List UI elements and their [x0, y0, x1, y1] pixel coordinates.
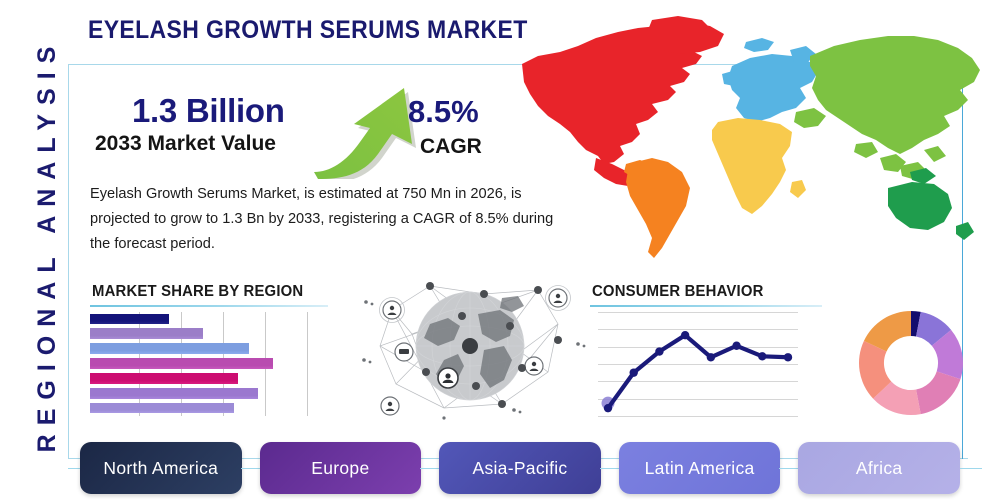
line-marker — [604, 404, 612, 412]
region-tab-europe[interactable]: Europe — [260, 442, 422, 494]
tab-connector — [779, 468, 799, 469]
region-tab-north-america[interactable]: North America — [80, 442, 242, 494]
bar-item — [90, 328, 203, 339]
region-tabs: North AmericaEuropeAsia-PacificLatin Ame… — [80, 442, 960, 494]
bar-item — [90, 403, 234, 414]
consumer-behavior-header: CONSUMER BEHAVIOR — [592, 283, 764, 301]
world-map-icon — [500, 12, 1000, 270]
bar-item — [90, 314, 169, 325]
donut-slice — [916, 371, 960, 414]
global-network-icon — [352, 268, 592, 428]
line-series — [598, 312, 798, 416]
tab-right-connector — [960, 468, 982, 469]
growth-arrow-icon — [312, 84, 422, 179]
infographic-root: REGIONAL ANALYSIS EYELASH GROWTH SERUMS … — [0, 0, 1000, 500]
cagr-label: CAGR — [420, 135, 482, 159]
line-marker — [630, 368, 638, 376]
bar-fill — [90, 328, 203, 339]
bar-fill — [90, 314, 169, 325]
tab-connector — [241, 468, 261, 469]
market-value-label: 2033 Market Value — [95, 132, 276, 156]
consumer-behavior-rule — [590, 305, 822, 307]
segment-donut-chart — [855, 307, 967, 419]
bar-fill — [90, 343, 249, 354]
market-share-rule — [90, 305, 328, 307]
region-tab-label: Europe — [311, 458, 369, 479]
regional-analysis-side-label: REGIONAL ANALYSIS — [30, 35, 64, 455]
market-share-bar-chart — [90, 312, 300, 416]
market-value-number: 1.3 Billion — [132, 92, 285, 130]
bar-fill — [90, 403, 234, 414]
bar-item — [90, 373, 238, 384]
bar-item — [90, 388, 258, 399]
line-gridline — [598, 416, 798, 417]
kpi-row: 1.3 Billion 2033 Market Value 8.5% CAGR — [90, 92, 510, 172]
bar-fill — [90, 358, 273, 369]
page-title: EYELASH GROWTH SERUMS MARKET — [88, 16, 528, 45]
bar-item — [90, 358, 273, 369]
bar-gridline — [307, 312, 308, 416]
line-marker — [758, 352, 766, 360]
bar-fill — [90, 388, 258, 399]
region-tab-label: Africa — [856, 458, 903, 479]
bar-item — [90, 343, 249, 354]
tab-connector — [600, 468, 620, 469]
consumer-behavior-line-chart — [598, 312, 798, 416]
bar-fill — [90, 373, 238, 384]
cagr-number: 8.5% — [408, 94, 479, 130]
line-marker — [784, 353, 792, 361]
tab-connector — [420, 468, 440, 469]
market-share-header: MARKET SHARE BY REGION — [92, 283, 303, 301]
region-tab-africa[interactable]: Africa — [798, 442, 960, 494]
region-tab-latin-america[interactable]: Latin America — [619, 442, 781, 494]
region-tab-label: Latin America — [645, 458, 755, 479]
line-marker — [707, 353, 715, 361]
region-tab-label: Asia-Pacific — [472, 458, 567, 479]
line-marker — [732, 342, 740, 350]
region-tab-label: North America — [103, 458, 218, 479]
line-marker — [655, 347, 663, 355]
line-marker — [681, 331, 689, 339]
region-tab-asia-pacific[interactable]: Asia-Pacific — [439, 442, 601, 494]
market-description: Eyelash Growth Serums Market, is estimat… — [90, 182, 570, 257]
